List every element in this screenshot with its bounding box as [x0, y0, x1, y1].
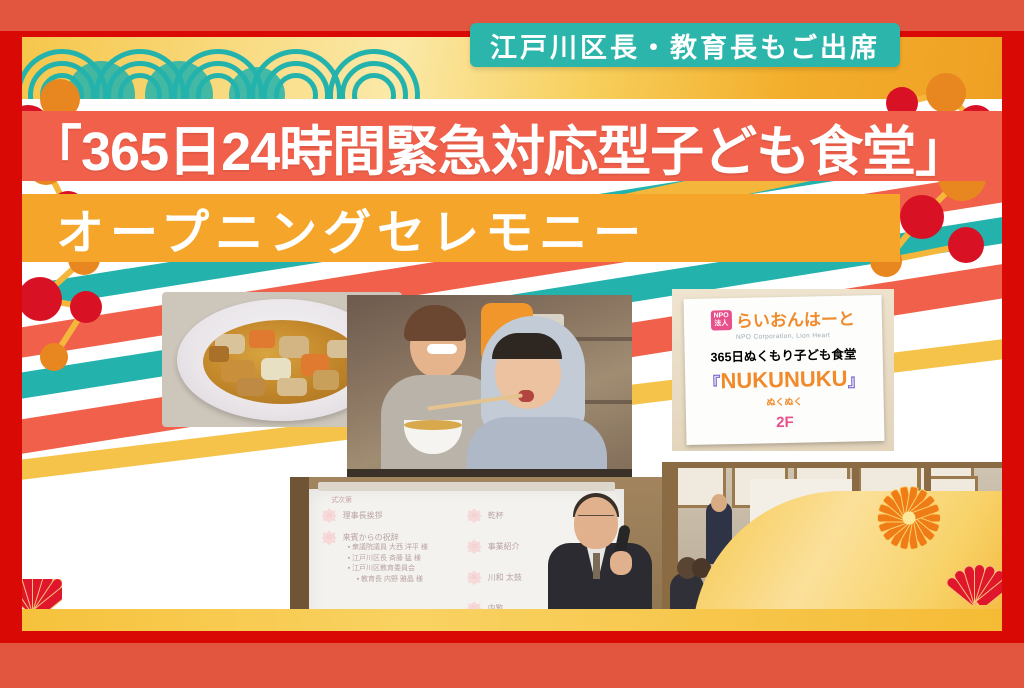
screen-roller	[318, 482, 614, 491]
main-title: 「365日24時間緊急対応型子ども食堂」	[22, 107, 968, 186]
garland-dot	[948, 227, 984, 263]
agenda-subitem: 衆議院議員 大西 洋平 様	[348, 543, 428, 554]
signboard-brand-row: 『 NUKUNUKU 』	[704, 365, 866, 394]
bottom-gold-bar	[22, 609, 1002, 631]
agenda-number-badge: 01	[322, 508, 337, 523]
npo-corporation-mark: NPO 法人	[711, 310, 733, 330]
photo-woman-and-boy: 女性と子どもが食事をしている様子	[347, 295, 632, 485]
agenda-number: 04	[471, 513, 477, 519]
chrysanthemum-core	[903, 512, 916, 525]
agenda-number-badge: 02	[322, 530, 337, 545]
photo-presenter-slide: 式次第 01理事長挨拶02来賓からの祝辞衆議院議員 大西 洋平 様江戸川区長 斉…	[290, 477, 670, 631]
agenda-label: 事業紹介	[488, 539, 520, 552]
bracket-close: 』	[848, 366, 866, 391]
agenda-item: 01理事長挨拶	[322, 508, 467, 523]
wall-pillar	[290, 477, 309, 631]
agenda-number-badge: 05	[467, 539, 482, 554]
presenter-glasses	[578, 515, 614, 523]
chrysanthemum-icon	[878, 487, 940, 549]
agenda-subitem: 教育長 内野 雅晶 様	[348, 575, 428, 586]
floor-label: 2F	[776, 414, 794, 431]
stew-contents	[203, 320, 361, 404]
npo-mark-line2: 法人	[714, 320, 729, 328]
fan-icon	[22, 579, 62, 613]
agenda-label: 乾杯	[488, 508, 504, 521]
main-title-bar: 「365日24時間緊急対応型子ども食堂」	[22, 111, 1002, 181]
stew-ingredient	[313, 370, 339, 390]
stew-ingredient	[209, 346, 229, 362]
presenter-hand	[610, 551, 632, 575]
org-name-jp: らいおんはーと	[736, 305, 855, 332]
presenter-head	[574, 497, 618, 549]
guest-attendance-badge: 江戸川区長・教育長もご出席	[470, 23, 900, 67]
stew-ingredient	[249, 330, 275, 348]
agenda-label: 川和 太鼓	[488, 570, 522, 583]
agenda-number: 07	[471, 606, 477, 612]
signboard-org-row: NPO 法人 らいおんはーと	[711, 305, 856, 333]
photo-npo-sign: NPO 法人 らいおんはーと NPO Corporation, Lion Hea…	[672, 289, 894, 451]
stew-ingredient	[261, 358, 291, 380]
agenda-item: 02来賓からの祝辞衆議院議員 大西 洋平 様江戸川区長 斉藤 猛 様江戸川区教育…	[322, 530, 467, 585]
signboard-tagline: 365日ぬくもり子ども食堂	[711, 344, 857, 366]
agenda-subitem-list: 衆議院議員 大西 洋平 様江戸川区長 斉藤 猛 様江戸川区教育委員会教育長 内野…	[343, 543, 428, 585]
agenda-number: 05	[471, 544, 477, 550]
agenda-number-badge: 06	[467, 570, 482, 585]
presenter-tie	[593, 553, 600, 579]
subtitle: オープニングセレモニー	[22, 193, 647, 263]
subtitle-bar: オープニングセレモニー	[22, 194, 900, 262]
stew-ingredient	[237, 378, 265, 396]
brand-name: NUKUNUKU	[721, 366, 849, 395]
agenda-subitem: 江戸川区教育委員会	[348, 564, 428, 575]
slide-heading: 式次第	[331, 495, 352, 505]
fan-icon	[942, 565, 1002, 605]
poster-board: 白い皿に盛られた煮物 女性と子どもが食事をしている様子	[22, 37, 1002, 631]
stew-ingredient	[277, 378, 307, 396]
agenda-subitem: 江戸川区長 斉藤 猛 様	[348, 554, 428, 565]
agenda-number: 06	[471, 575, 477, 581]
agenda-number: 02	[326, 535, 332, 541]
ceiling-beam	[662, 462, 1002, 468]
woman-smile	[427, 344, 457, 354]
signboard: NPO 法人 らいおんはーと NPO Corporation, Lion Hea…	[684, 295, 885, 445]
agenda-label: 来賓からの祝辞衆議院議員 大西 洋平 様江戸川区長 斉藤 猛 様江戸川区教育委員…	[343, 530, 428, 585]
poster-canvas: 白い皿に盛られた煮物 女性と子どもが食事をしている様子	[0, 0, 1024, 688]
org-name-en: NPO Corporation, Lion Heart	[736, 332, 830, 341]
brand-kana: ぬくぬく	[767, 395, 803, 409]
agenda-number: 01	[326, 513, 332, 519]
badge-label: 江戸川区長・教育長もご出席	[490, 26, 880, 65]
garland-dot	[900, 195, 944, 239]
agenda-label: 理事長挨拶	[343, 508, 383, 521]
bracket-open: 『	[704, 369, 722, 394]
speaker-head	[711, 494, 727, 512]
agenda-number-badge: 04	[467, 508, 482, 523]
npo-mark-line1: NPO	[714, 312, 729, 320]
